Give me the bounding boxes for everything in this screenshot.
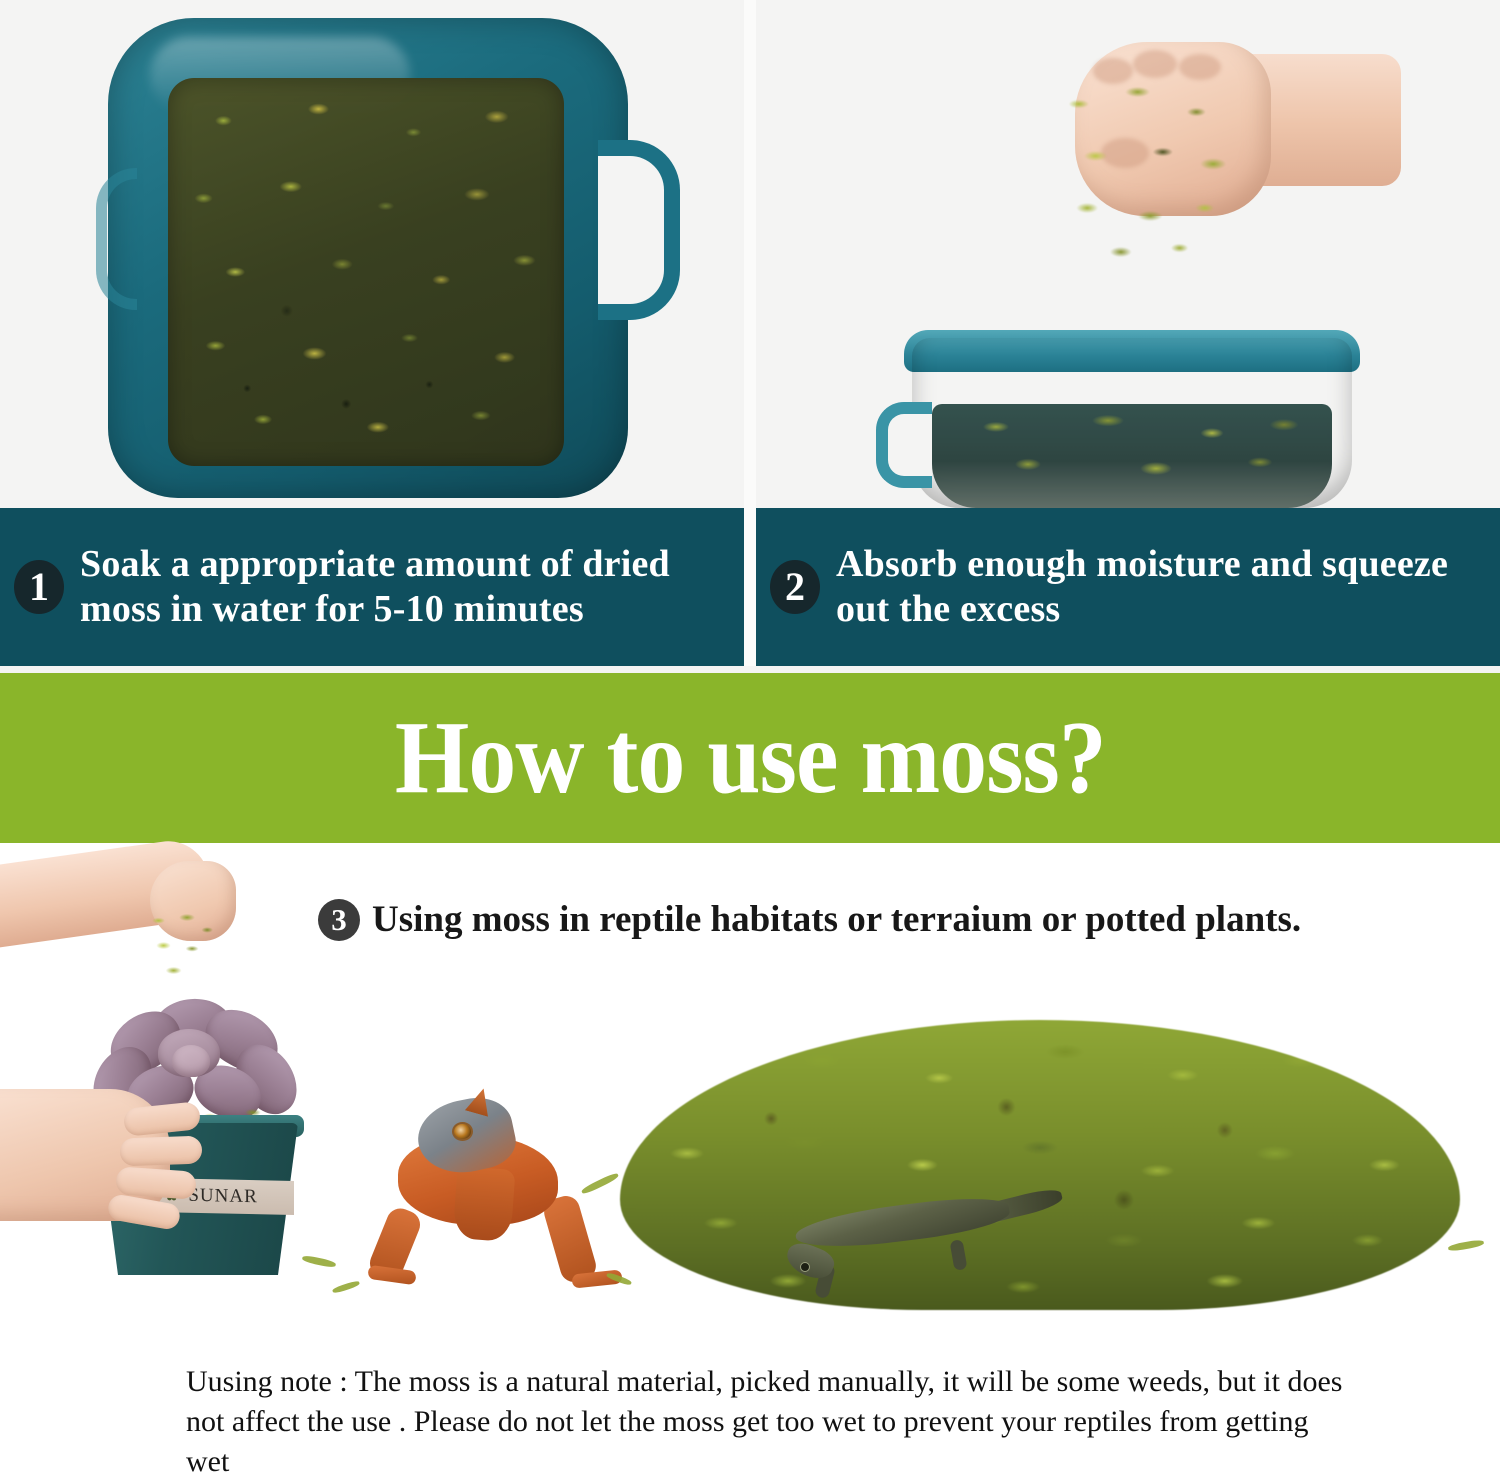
step1-caption-text: Soak a appropriate amount of dried moss … <box>80 542 744 632</box>
finger <box>115 1166 197 1200</box>
step-number-badge: 1 <box>14 560 64 614</box>
pot-label-brand: SUNAR <box>188 1185 257 1208</box>
iguana-dewlap <box>453 1166 516 1242</box>
step-number-badge: 3 <box>318 899 360 941</box>
step1-caption: 1 Soak a appropriate amount of dried mos… <box>0 508 744 666</box>
usage-note: Uusing note : The moss is a natural mate… <box>186 1362 1356 1477</box>
page-title: How to use moss? <box>395 706 1106 810</box>
basin-side-handle <box>876 402 932 488</box>
succulent-leaf-core <box>172 1045 210 1077</box>
caption-divider <box>744 508 756 666</box>
infographic-page: 1 Soak a appropriate amount of dried mos… <box>0 0 1500 1477</box>
step1-photo <box>0 0 744 508</box>
squeezed-moss-clump <box>1041 68 1251 268</box>
caption-row: 1 Soak a appropriate amount of dried mos… <box>0 508 1500 666</box>
finger <box>120 1136 203 1167</box>
dropped-moss <box>140 905 224 983</box>
basin-handle-left <box>96 168 137 310</box>
step-number-badge: 2 <box>770 560 820 614</box>
photo-divider <box>744 0 756 508</box>
squeezing-hand-image <box>1041 20 1401 270</box>
step2-photo <box>756 0 1500 508</box>
basin-handle-right <box>598 140 680 320</box>
step2-caption: 2 Absorb enough moisture and squeeze out… <box>756 508 1500 666</box>
step2-caption-text: Absorb enough moisture and squeeze out t… <box>836 542 1500 632</box>
soaked-moss <box>168 78 564 466</box>
iguana-eye <box>452 1122 473 1141</box>
salamander-eye <box>800 1262 810 1272</box>
headline-banner: How to use moss? <box>0 673 1500 843</box>
top-photo-row <box>0 0 1500 508</box>
step3-caption-text: Using moss in reptile habitats or terrai… <box>372 898 1301 941</box>
step3-caption: 3 Using moss in reptile habitats or terr… <box>318 898 1301 941</box>
basin-moss-water <box>932 404 1332 508</box>
